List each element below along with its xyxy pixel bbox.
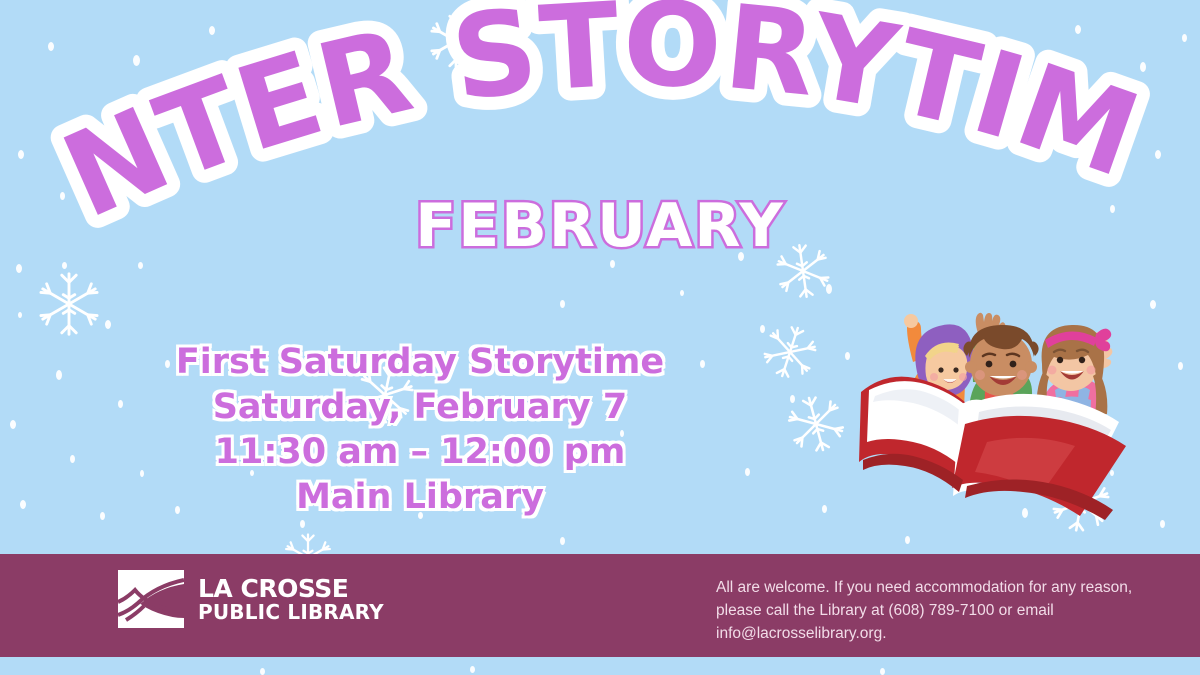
snow-dot	[880, 668, 885, 675]
event-name: First Saturday Storytime	[0, 340, 840, 385]
la-crosse-river-bluff-mark-icon	[118, 570, 184, 628]
logo-line-la-crosse: LA CROSSE	[198, 576, 384, 602]
snow-dot	[62, 262, 67, 269]
snow-dot	[845, 352, 850, 360]
children-on-book-illustration	[855, 272, 1130, 527]
snow-dot	[1160, 520, 1165, 528]
snow-dot	[260, 668, 265, 675]
snow-dot	[105, 320, 111, 329]
snow-dot	[680, 290, 684, 296]
event-details: First Saturday Storytime Saturday, Febru…	[0, 340, 840, 520]
accommodation-line-1: All are welcome. If you need accommodati…	[716, 576, 1176, 599]
snow-dot	[905, 536, 910, 544]
snow-dot	[138, 262, 143, 269]
snow-dot	[610, 260, 615, 268]
event-location: Main Library	[0, 475, 840, 520]
winter-storytimes-poster: WINTER STORYTIMES WINTER STORYTIMES FEBR…	[0, 0, 1200, 675]
library-logo-text: LA CROSSE PUBLIC LIBRARY	[198, 576, 384, 622]
snow-dot	[300, 520, 305, 528]
event-date: Saturday, February 7	[0, 385, 840, 430]
snow-dot	[1150, 300, 1156, 309]
snow-dot	[1178, 362, 1183, 370]
poster-month: FEBRUARY	[0, 196, 1200, 256]
snow-dot	[560, 537, 565, 545]
logo-line-public-library: PUBLIC LIBRARY	[198, 602, 384, 622]
snow-dot	[560, 300, 565, 308]
accommodation-line-2: please call the Library at (608) 789-710…	[716, 599, 1176, 622]
event-time: 11:30 am – 12:00 pm	[0, 430, 840, 475]
accommodation-line-3: info@lacrosselibrary.org.	[716, 622, 1176, 645]
snow-dot	[760, 325, 765, 333]
library-logo[interactable]: LA CROSSE PUBLIC LIBRARY	[118, 570, 384, 628]
snowflake-icon	[33, 268, 105, 340]
snow-dot	[16, 264, 22, 273]
snow-dot	[826, 284, 832, 294]
snow-dot	[470, 666, 475, 673]
footer-band: LA CROSSE PUBLIC LIBRARY All are welcome…	[0, 554, 1200, 657]
poster-month-label: FEBRUARY	[415, 196, 785, 256]
snow-dot	[18, 312, 22, 318]
accommodation-notice: All are welcome. If you need accommodati…	[716, 576, 1176, 645]
